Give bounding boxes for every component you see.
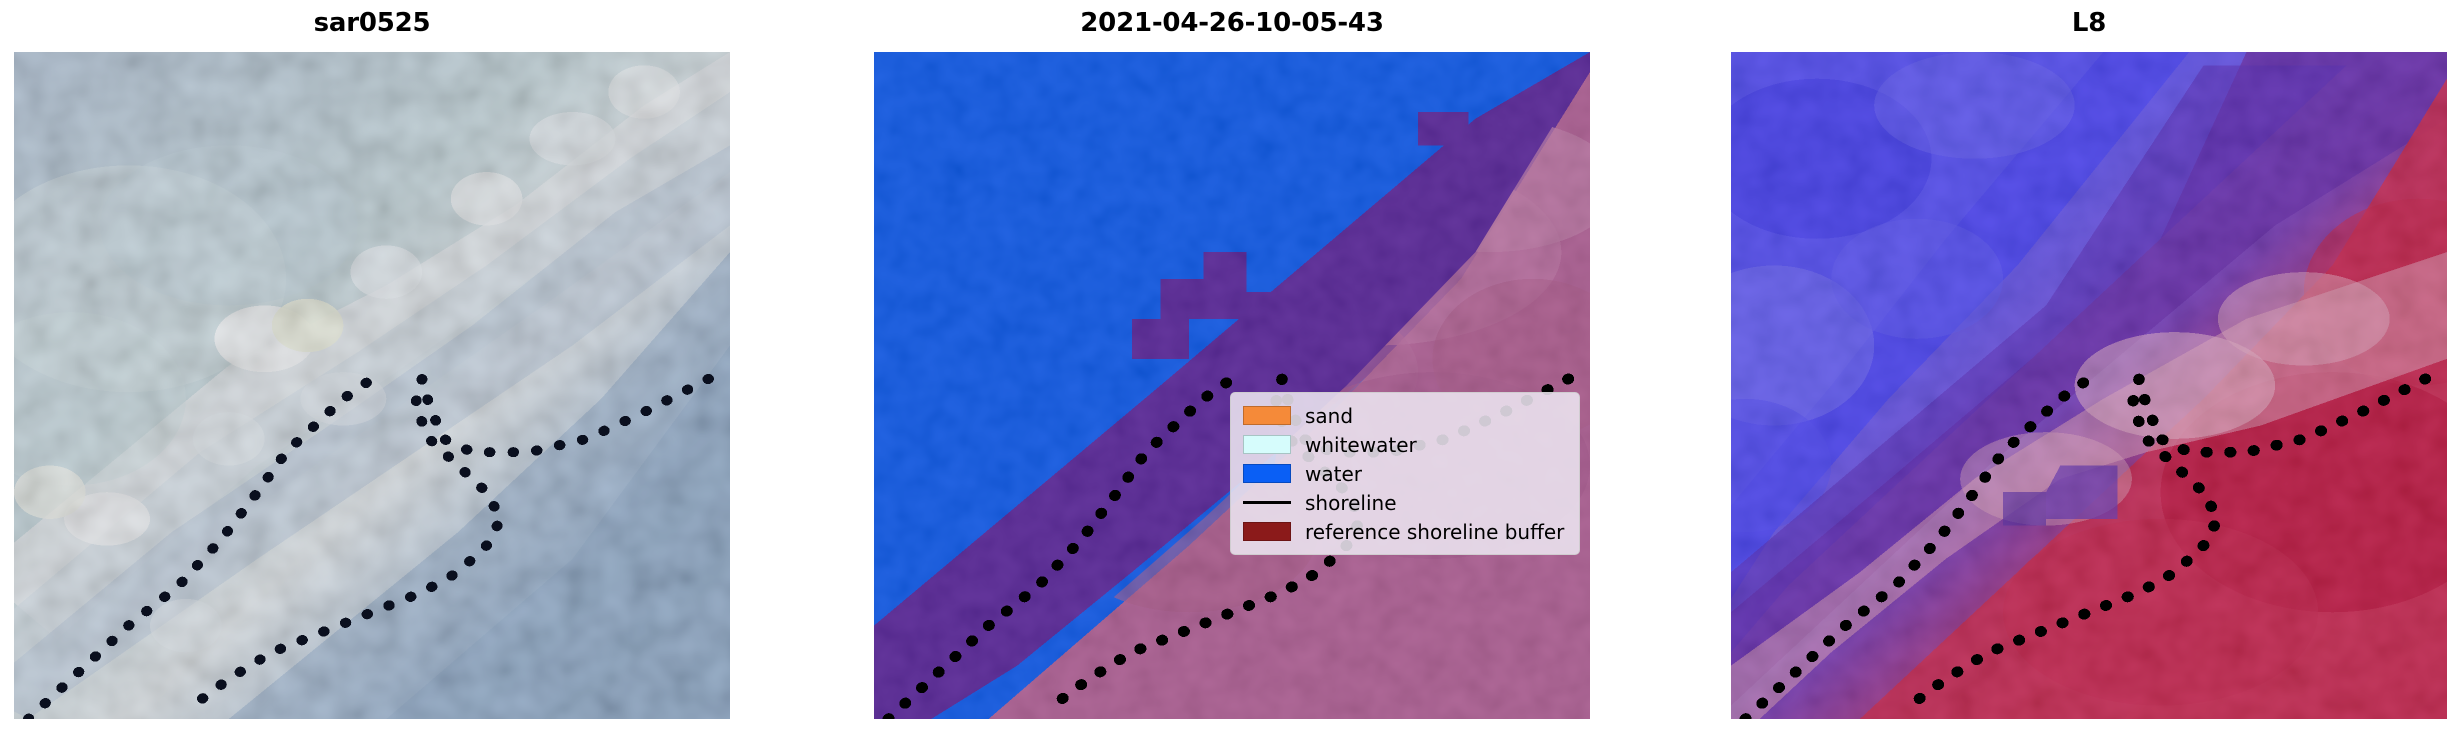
panel-sar0525: sar0525: [14, 0, 730, 735]
legend-item-sand: sand: [1243, 401, 1569, 430]
legend-item-water: water: [1243, 459, 1569, 488]
raster-index-image: [1731, 52, 2447, 719]
panel-title-2: 2021-04-26-10-05-43: [874, 6, 1590, 40]
whitewater-swatch-icon: [1243, 435, 1291, 454]
reference-buffer-swatch-icon: [1243, 522, 1291, 541]
legend-box: sand whitewater water shoreline referenc…: [1230, 392, 1580, 555]
legend-item-whitewater: whitewater: [1243, 430, 1569, 459]
raster-classification-image: [874, 52, 1590, 719]
panel-l8: L8: [1731, 0, 2447, 735]
figure-canvas: sar0525: [0, 0, 2460, 735]
legend-label-shoreline: shoreline: [1305, 492, 1397, 514]
shoreline-line-icon: [1243, 501, 1291, 504]
axes-l8[interactable]: [1731, 52, 2447, 719]
axes-classification[interactable]: sand whitewater water shoreline referenc…: [874, 52, 1590, 719]
raster-rgb-image: [14, 52, 730, 719]
axes-sar0525[interactable]: [14, 52, 730, 719]
legend-label-water: water: [1305, 463, 1362, 485]
water-swatch-icon: [1243, 464, 1291, 483]
sand-swatch-icon: [1243, 406, 1291, 425]
panel-title-3: L8: [1731, 6, 2447, 40]
legend-label-whitewater: whitewater: [1305, 434, 1417, 456]
panel-classification: 2021-04-26-10-05-43: [874, 0, 1590, 735]
panel-title-1: sar0525: [14, 6, 730, 40]
legend-item-reference-buffer: reference shoreline buffer: [1243, 517, 1569, 546]
legend-label-reference-buffer: reference shoreline buffer: [1305, 521, 1564, 543]
legend-item-shoreline: shoreline: [1243, 488, 1569, 517]
legend-label-sand: sand: [1305, 405, 1353, 427]
